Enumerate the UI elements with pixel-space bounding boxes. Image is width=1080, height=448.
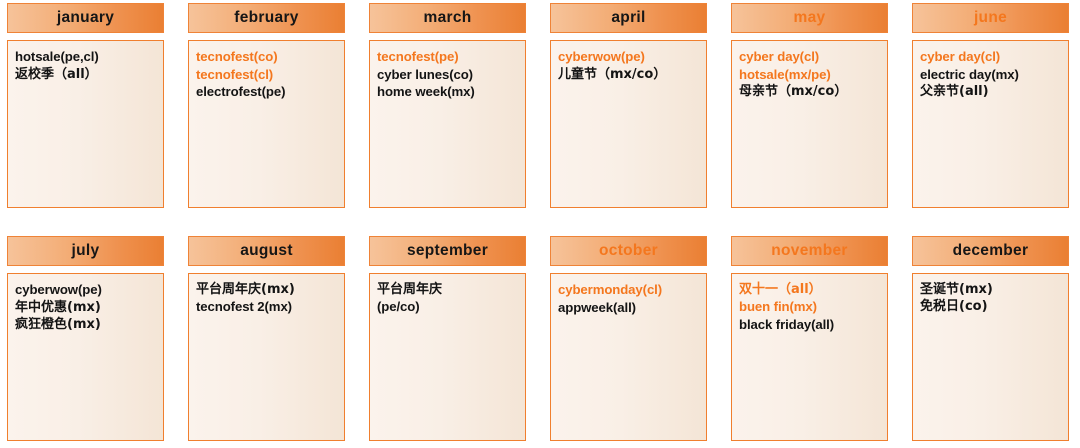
event-item: 返校季（all） — [15, 66, 157, 83]
month-title: june — [974, 10, 1007, 26]
month-title: april — [611, 10, 645, 26]
event-list: cybermonday(cl)appweek(all) — [558, 281, 700, 316]
event-list: 圣诞节(mx)免税日(co) — [920, 281, 1062, 316]
event-item: 年中优惠(mx) — [15, 299, 157, 316]
event-item: cyber lunes(co) — [377, 66, 519, 84]
month-header-november[interactable]: november — [731, 236, 888, 266]
event-item: 平台周年庆(mx) — [196, 281, 338, 298]
event-item: cyberwow(pe) — [15, 281, 157, 299]
event-list: cyber day(cl)electric day(mx)父亲节(all) — [920, 48, 1062, 100]
month-title: march — [423, 10, 471, 26]
month-body-november: 双十一（all）buen fin(mx)black friday(all) — [731, 273, 888, 441]
month-title: november — [771, 243, 847, 259]
event-item: cybermonday(cl) — [558, 281, 700, 299]
month-title: july — [72, 243, 100, 259]
month-body-september: 平台周年庆(pe/co) — [369, 273, 526, 441]
month-body-may: cyber day(cl)hotsale(mx/pe)母亲节（mx/co） — [731, 40, 888, 208]
event-list: tecnofest(co)tecnofest(cl)electrofest(pe… — [196, 48, 338, 101]
month-cell-january: januaryhotsale(pe,cl)返校季（all） — [7, 3, 164, 208]
month-cell-july: julycyberwow(pe)年中优惠(mx)疯狂橙色(mx) — [7, 236, 164, 441]
month-title: august — [240, 243, 293, 259]
event-item: tecnofest(co) — [196, 48, 338, 66]
month-cell-april: aprilcyberwow(pe)儿童节（mx/co） — [550, 3, 707, 208]
month-title: february — [234, 10, 298, 26]
month-cell-august: august平台周年庆(mx)tecnofest 2(mx) — [188, 236, 345, 441]
event-item: tecnofest(cl) — [196, 66, 338, 84]
month-body-june: cyber day(cl)electric day(mx)父亲节(all) — [912, 40, 1069, 208]
month-body-april: cyberwow(pe)儿童节（mx/co） — [550, 40, 707, 208]
event-item: (pe/co) — [377, 298, 519, 316]
month-body-january: hotsale(pe,cl)返校季（all） — [7, 40, 164, 208]
month-header-april[interactable]: april — [550, 3, 707, 33]
month-body-march: tecnofest(pe)cyber lunes(co)home week(mx… — [369, 40, 526, 208]
month-header-october[interactable]: october — [550, 236, 707, 266]
month-title: october — [599, 243, 658, 259]
month-title: december — [953, 243, 1029, 259]
event-item: 父亲节(all) — [920, 83, 1062, 100]
event-item: hotsale(mx/pe) — [739, 66, 881, 84]
month-header-august[interactable]: august — [188, 236, 345, 266]
month-header-may[interactable]: may — [731, 3, 888, 33]
month-cell-june: junecyber day(cl)electric day(mx)父亲节(all… — [912, 3, 1069, 208]
event-item: 疯狂橙色(mx) — [15, 316, 157, 333]
calendar-grid: januaryhotsale(pe,cl)返校季（all）februarytec… — [0, 0, 1080, 448]
month-body-july: cyberwow(pe)年中优惠(mx)疯狂橙色(mx) — [7, 273, 164, 441]
month-title: may — [794, 10, 826, 26]
event-item: 儿童节（mx/co） — [558, 66, 700, 83]
month-body-august: 平台周年庆(mx)tecnofest 2(mx) — [188, 273, 345, 441]
event-list: cyber day(cl)hotsale(mx/pe)母亲节（mx/co） — [739, 48, 881, 100]
event-item: electrofest(pe) — [196, 83, 338, 101]
event-list: hotsale(pe,cl)返校季（all） — [15, 48, 157, 83]
event-item: 圣诞节(mx) — [920, 281, 1062, 298]
event-list: cyberwow(pe)年中优惠(mx)疯狂橙色(mx) — [15, 281, 157, 333]
month-cell-october: octobercybermonday(cl)appweek(all) — [550, 236, 707, 441]
event-list: 双十一（all）buen fin(mx)black friday(all) — [739, 281, 881, 333]
event-item: 双十一（all） — [739, 281, 881, 298]
month-title: january — [57, 10, 114, 26]
month-header-december[interactable]: december — [912, 236, 1069, 266]
month-header-september[interactable]: september — [369, 236, 526, 266]
event-item: tecnofest(pe) — [377, 48, 519, 66]
month-header-july[interactable]: july — [7, 236, 164, 266]
month-body-october: cybermonday(cl)appweek(all) — [550, 273, 707, 441]
month-cell-september: september平台周年庆(pe/co) — [369, 236, 526, 441]
event-item: tecnofest 2(mx) — [196, 298, 338, 316]
month-cell-november: november双十一（all）buen fin(mx)black friday… — [731, 236, 888, 441]
event-item: home week(mx) — [377, 83, 519, 101]
event-item: black friday(all) — [739, 316, 881, 334]
month-cell-december: december圣诞节(mx)免税日(co) — [912, 236, 1069, 441]
event-item: 免税日(co) — [920, 298, 1062, 315]
month-body-february: tecnofest(co)tecnofest(cl)electrofest(pe… — [188, 40, 345, 208]
event-list: 平台周年庆(pe/co) — [377, 281, 519, 316]
event-list: cyberwow(pe)儿童节（mx/co） — [558, 48, 700, 83]
month-cell-may: maycyber day(cl)hotsale(mx/pe)母亲节（mx/co） — [731, 3, 888, 208]
month-body-december: 圣诞节(mx)免税日(co) — [912, 273, 1069, 441]
month-header-february[interactable]: february — [188, 3, 345, 33]
month-header-march[interactable]: march — [369, 3, 526, 33]
event-list: 平台周年庆(mx)tecnofest 2(mx) — [196, 281, 338, 316]
event-item: 平台周年庆 — [377, 281, 519, 298]
event-item: buen fin(mx) — [739, 298, 881, 316]
month-cell-march: marchtecnofest(pe)cyber lunes(co)home we… — [369, 3, 526, 208]
month-header-january[interactable]: january — [7, 3, 164, 33]
event-list: tecnofest(pe)cyber lunes(co)home week(mx… — [377, 48, 519, 101]
event-item: appweek(all) — [558, 299, 700, 317]
event-item: electric day(mx) — [920, 66, 1062, 84]
event-item: cyber day(cl) — [739, 48, 881, 66]
event-item: 母亲节（mx/co） — [739, 83, 881, 100]
event-item: hotsale(pe,cl) — [15, 48, 157, 66]
event-item: cyber day(cl) — [920, 48, 1062, 66]
month-header-june[interactable]: june — [912, 3, 1069, 33]
event-item: cyberwow(pe) — [558, 48, 700, 66]
month-cell-february: februarytecnofest(co)tecnofest(cl)electr… — [188, 3, 345, 208]
month-title: september — [407, 243, 488, 259]
